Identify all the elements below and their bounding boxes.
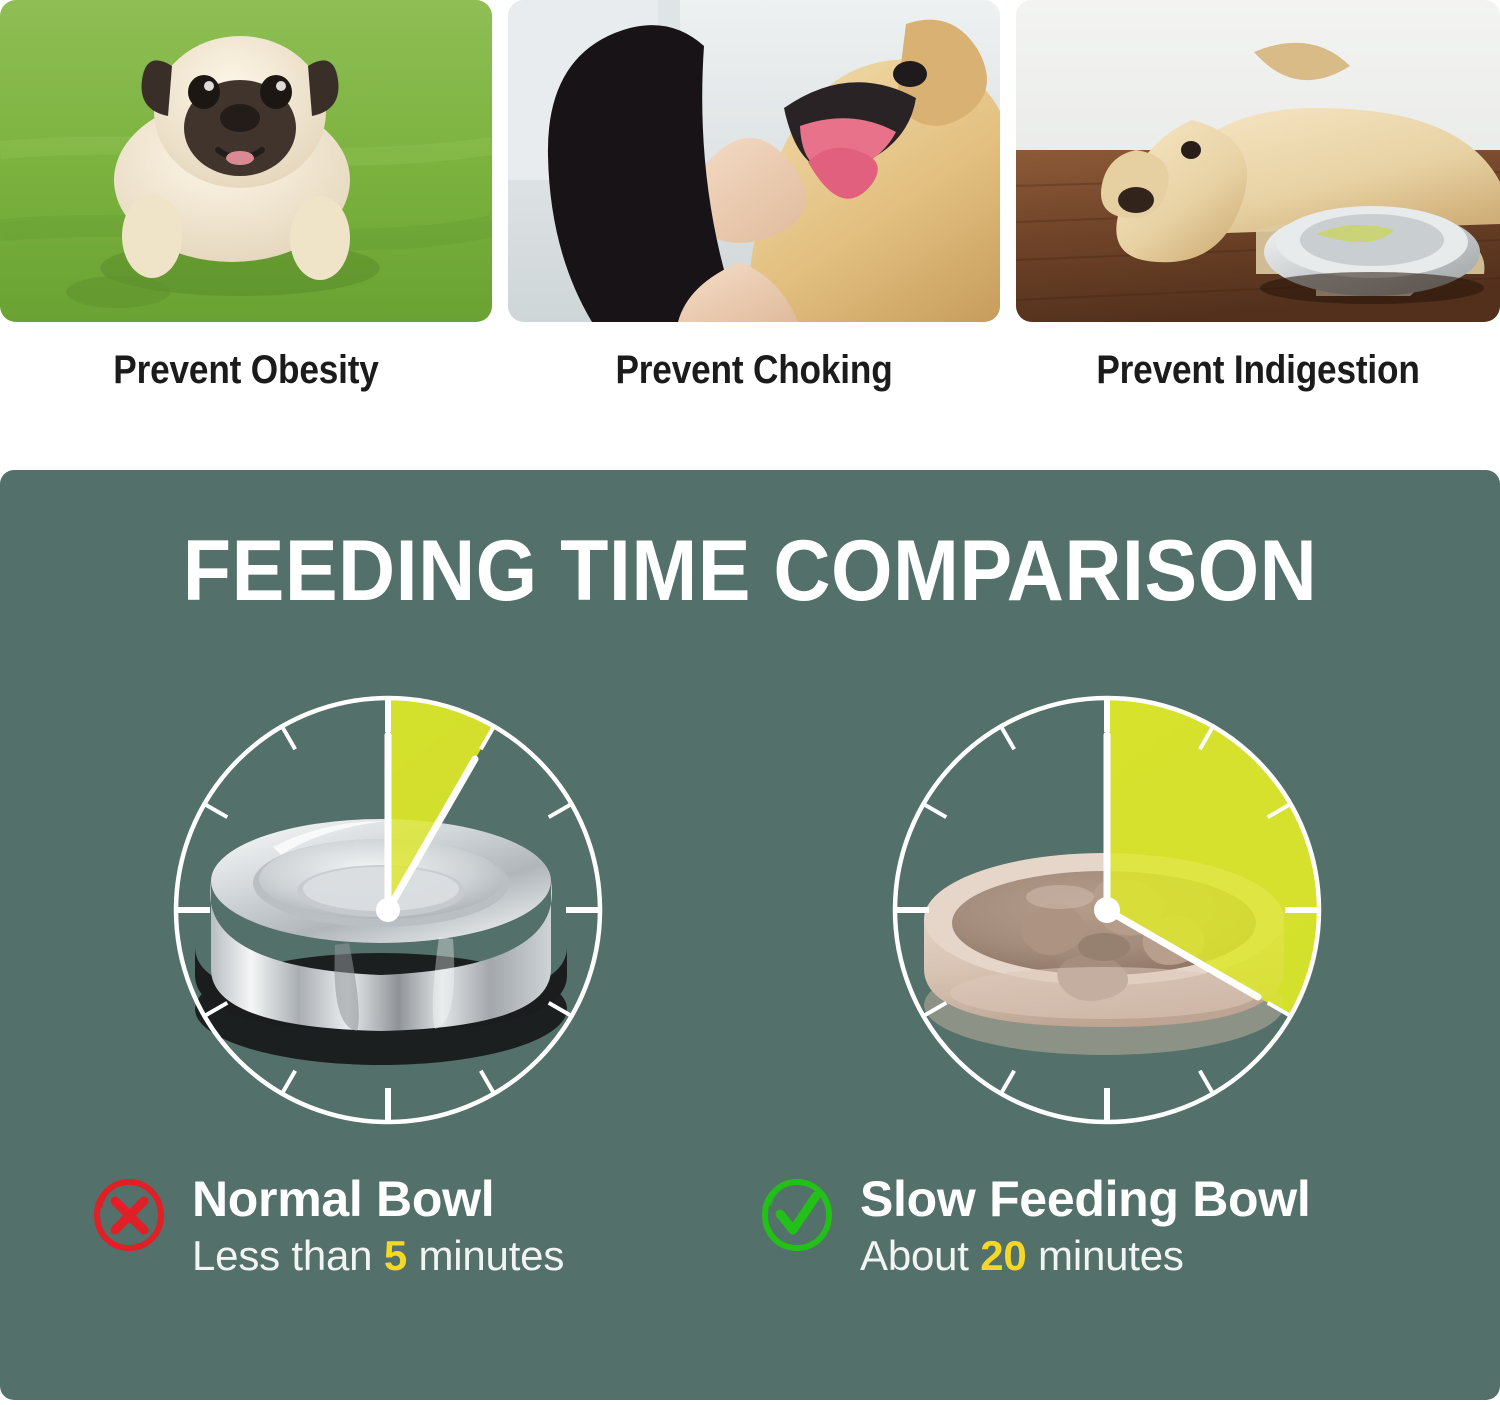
benefit-card-indigestion: Prevent Indigestion [1016,0,1500,322]
benefit-caption: Prevent Indigestion [1045,348,1471,393]
result-subtitle-prefix: Less than [192,1232,384,1279]
results-row: Normal Bowl Less than 5 minutes Slow Fee… [0,1170,1500,1320]
result-subtitle: Less than 5 minutes [192,1230,564,1282]
result-normal-bowl: Normal Bowl Less than 5 minutes [92,1170,564,1282]
result-subtitle-prefix: About [860,1232,980,1279]
result-text: Normal Bowl Less than 5 minutes [192,1170,564,1282]
clock-normal-bowl [153,675,623,1145]
green-check-circle-icon [760,1176,834,1254]
red-x-circle-icon [92,1176,166,1254]
result-minutes: 20 [980,1232,1026,1279]
result-subtitle-suffix: minutes [407,1232,564,1279]
result-title: Slow Feeding Bowl [860,1170,1310,1228]
result-slow-feeding-bowl: Slow Feeding Bowl About 20 minutes [760,1170,1310,1282]
result-subtitle-suffix: minutes [1027,1232,1184,1279]
benefits-strip: Prevent Obesity [0,0,1500,440]
result-subtitle: About 20 minutes [860,1230,1310,1282]
clock-slow-feeding-bowl [872,675,1342,1145]
benefit-card-obesity: Prevent Obesity [0,0,492,322]
benefit-card-choking: Prevent Choking [508,0,1000,322]
person-checking-dog-mouth-photo [508,0,1000,322]
result-minutes: 5 [384,1232,407,1279]
dog-lying-by-bowl-photo [1016,0,1500,322]
result-title: Normal Bowl [192,1170,564,1228]
panel-title: FEEDING TIME COMPARISON [60,528,1440,614]
overweight-pug-on-grass-photo [0,0,492,322]
clock-comparison-row [0,675,1500,1145]
comparison-panel: FEEDING TIME COMPARISON [0,470,1500,1400]
result-text: Slow Feeding Bowl About 20 minutes [860,1170,1310,1282]
infographic-page: Prevent Obesity [0,0,1500,1405]
benefit-caption: Prevent Obesity [30,348,463,393]
benefit-caption: Prevent Choking [538,348,971,393]
